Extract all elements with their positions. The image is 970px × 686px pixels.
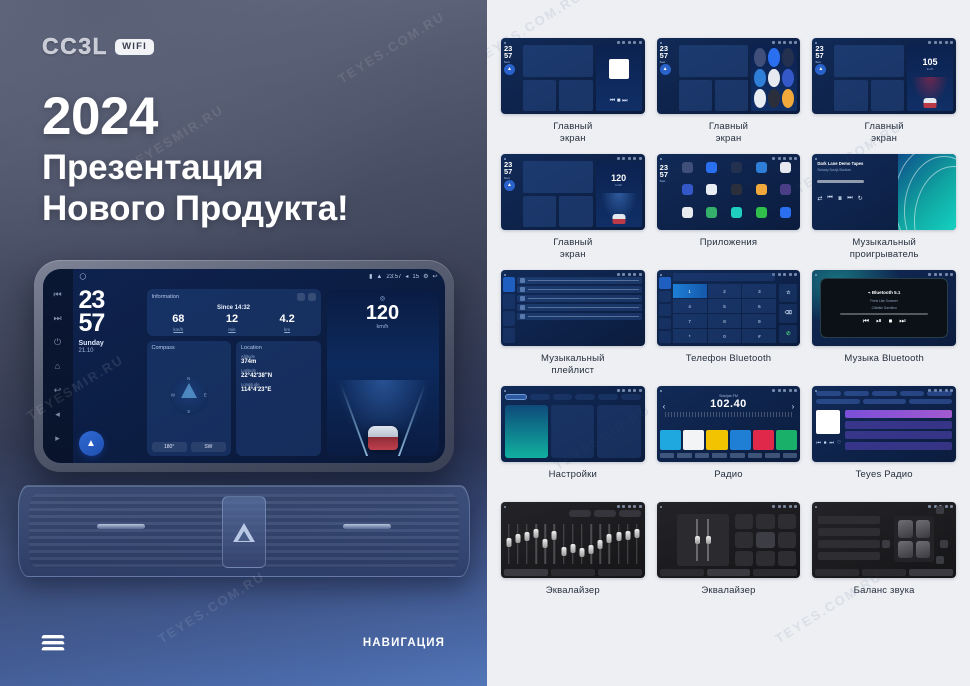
screen-caption: Музыка Bluetooth: [844, 353, 924, 377]
clock-icon: [622, 157, 625, 160]
track-icon: [520, 287, 525, 292]
mini-nav-button[interactable]: ▲: [504, 64, 515, 75]
app-icon[interactable]: [780, 162, 791, 173]
screen-card[interactable]: 2357 Sun ▲ ⏮ ■ ⏭ Главныйэкран: [501, 38, 645, 145]
app-icon[interactable]: [731, 184, 742, 195]
screen-card[interactable]: 2357 Sun ▲ 120km/h Главныйэкран: [501, 154, 645, 261]
balance-right-button[interactable]: [940, 540, 948, 548]
effect-button[interactable]: [756, 551, 775, 566]
screen-caption: Главныйэкран: [709, 121, 748, 145]
radio-presets[interactable]: [660, 430, 798, 450]
dial-actions[interactable]: ☆⌫✆: [779, 284, 797, 343]
eq-band[interactable]: [533, 520, 540, 568]
clock-icon: [778, 41, 781, 44]
prev-station-icon[interactable]: ‹: [663, 402, 666, 411]
bt-controls[interactable]: ⏮⏯⏹⏭: [863, 318, 906, 326]
effect-button[interactable]: [756, 514, 775, 529]
screen-card[interactable]: Настройки: [501, 386, 645, 493]
app-icon[interactable]: [782, 89, 794, 108]
thumb-body: 2357 Sun ▲ 120km/h: [504, 161, 642, 227]
radio-preset-tile[interactable]: [730, 430, 751, 450]
screen-thumbnail[interactable]: Dark Lane Demo Tapes Subway Soulja Stadi…: [812, 154, 956, 230]
teyes-controls[interactable]: ⏮⏹⏭♡: [816, 440, 841, 446]
prev-track-icon[interactable]: ⏮: [52, 289, 63, 300]
list-item: [845, 442, 952, 450]
app-icon[interactable]: [782, 69, 794, 88]
radio-header: Stacijas FM 102.40: [663, 394, 795, 410]
effect-button[interactable]: [778, 532, 797, 547]
back-icon: [950, 505, 953, 508]
screen-caption: Эквалайзер: [701, 585, 755, 609]
home-circle-icon: [504, 274, 506, 276]
progress-bar[interactable]: [817, 180, 864, 183]
list-item[interactable]: [517, 304, 642, 311]
settings-tabs[interactable]: [505, 394, 641, 400]
dial-key[interactable]: 9: [742, 314, 776, 328]
app-icon[interactable]: [780, 207, 791, 218]
radio-preset-tile[interactable]: [660, 430, 681, 450]
home-circle-icon[interactable]: ◯: [80, 273, 87, 280]
mini-compass-card[interactable]: [834, 80, 867, 112]
location-card[interactable]: Location Altitude 374m Latitude 22°42'38…: [236, 341, 321, 456]
app-icon[interactable]: [782, 48, 794, 67]
screen-card[interactable]: ⌁ Bluetooth 5.1 Feels Like Summer Childi…: [812, 270, 956, 377]
mini-clock: 2357 Sun: [660, 164, 676, 183]
screen-thumbnail[interactable]: [657, 502, 801, 578]
next-track-icon[interactable]: ⏭: [52, 313, 63, 324]
screen-card[interactable]: Эквалайзер: [501, 502, 645, 609]
eq-band[interactable]: [624, 520, 631, 568]
eq-band[interactable]: [615, 520, 622, 568]
teyes-tab: [872, 391, 897, 396]
list-item[interactable]: [517, 313, 642, 320]
mini-nav-button[interactable]: ▲: [815, 64, 826, 75]
compass-e: E: [204, 393, 207, 398]
effect-button[interactable]: [778, 514, 797, 529]
clock-date: 21.10: [79, 348, 141, 354]
mini-location-card[interactable]: [559, 80, 592, 112]
bt-device-name: ⌁ Bluetooth 5.1: [868, 290, 900, 296]
thumb-status-bar: [815, 504, 953, 509]
toolbar-icon: [660, 453, 675, 458]
clock-icon: [934, 41, 937, 44]
volume-icon: [783, 273, 786, 276]
list-item[interactable]: [517, 295, 642, 302]
screen-caption: Главныйэкран: [553, 237, 592, 261]
toolbar-icon: [748, 453, 763, 458]
app-icon[interactable]: [754, 48, 766, 67]
app-icon[interactable]: [768, 69, 780, 88]
favorite-icon: ♡: [837, 440, 841, 446]
settings-card-more[interactable]: [597, 405, 640, 458]
clock-icon: [778, 157, 781, 160]
bt-track-artist: Childish Gambino: [872, 306, 897, 310]
screen-caption: Главныйэкран: [553, 121, 592, 145]
volume-icon: [628, 273, 631, 276]
wifi-icon: [928, 41, 931, 44]
next-icon: ⏭: [899, 318, 905, 326]
app-icon[interactable]: [756, 184, 767, 195]
screen-card[interactable]: Эквалайзер: [657, 502, 801, 609]
mini-car: [612, 214, 625, 224]
mini-date: Sun: [660, 180, 676, 183]
vent-slider-left[interactable]: [97, 524, 145, 529]
favorite-icon: ☆: [779, 284, 797, 302]
tab-balance: [753, 569, 797, 576]
home-icon[interactable]: ⌂: [52, 361, 63, 372]
volume-icon: [783, 505, 786, 508]
eq-band[interactable]: [597, 520, 604, 568]
balance-left-button[interactable]: [882, 540, 890, 548]
backspace-icon: ⌫: [779, 304, 797, 322]
latitude-row: Latitude 22°42'38"N: [241, 368, 316, 379]
mini-location-card[interactable]: [559, 196, 592, 228]
back-icon[interactable]: ↩: [52, 385, 63, 396]
longitude-row: Longitude 114°4'23"E: [241, 382, 316, 393]
home-circle-icon: [660, 390, 662, 392]
clock-day: Sunday: [79, 340, 141, 347]
equalizer-bands[interactable]: [505, 520, 641, 568]
balance-down-button[interactable]: [936, 556, 944, 564]
screen-card[interactable]: 123456789*0# ☆⌫✆ Телефон Bluetooth: [657, 270, 801, 377]
logo-text: CC3L: [42, 33, 108, 60]
wifi-icon: [772, 389, 775, 392]
mini-info-card[interactable]: [523, 161, 593, 193]
mini-info-card[interactable]: [679, 45, 749, 77]
toolbar-icon: [677, 453, 692, 458]
seat-fr: [916, 520, 930, 538]
number-field[interactable]: [673, 273, 776, 281]
refresh-icon[interactable]: [297, 293, 305, 301]
mini-location-card[interactable]: [871, 80, 904, 112]
vent-slider-right[interactable]: [343, 524, 391, 529]
prev-icon: ⏮: [863, 318, 869, 326]
screen-card[interactable]: Музыкальныйплейлист: [501, 270, 645, 377]
mini-info-card[interactable]: [523, 45, 593, 77]
hazard-button[interactable]: [222, 496, 266, 568]
radio-preset-tile[interactable]: [753, 430, 774, 450]
app-icon[interactable]: [731, 162, 742, 173]
headline-line-1: Презентация: [42, 148, 348, 189]
dial-key[interactable]: 0: [708, 329, 742, 343]
mini-drive-panel[interactable]: 105km/h: [907, 45, 953, 111]
mini-compass-card[interactable]: [523, 196, 556, 228]
dial-key[interactable]: 1: [673, 284, 707, 298]
wifi-icon: ▲: [376, 274, 382, 280]
mini-media-panel[interactable]: ⏮ ■ ⏭: [596, 45, 642, 111]
screen-card[interactable]: 2357 Sun ▲ Главныйэкран: [657, 38, 801, 145]
thumb-status-bar: [504, 388, 642, 393]
mini-compass-card[interactable]: [523, 80, 556, 112]
screen-card[interactable]: 2357 Sun Приложения: [657, 154, 801, 261]
clock-icon: [622, 273, 625, 276]
toolbar-icon: [695, 453, 710, 458]
home-circle-icon: [504, 390, 506, 392]
back-icon: [639, 505, 642, 508]
volume-icon: [783, 41, 786, 44]
app-icon[interactable]: [682, 207, 693, 218]
tab-search: [659, 304, 671, 316]
tab-system: [621, 394, 641, 400]
eq-band[interactable]: [606, 520, 613, 568]
preset-button: [569, 510, 591, 517]
thumb-body: 2357 Sun ▲ ⏮ ■ ⏭: [504, 45, 642, 111]
mini-app-grid[interactable]: [754, 48, 794, 108]
tab-theme: [575, 394, 595, 400]
balance-pad[interactable]: [894, 516, 934, 562]
radio-preset-tile[interactable]: [776, 430, 797, 450]
status-volume: 15: [412, 274, 419, 280]
dial-key[interactable]: #: [742, 329, 776, 343]
compass-direction: SW: [191, 442, 226, 452]
teyes-now-playing: ⏮⏹⏭♡: [816, 410, 841, 458]
stop-icon: ⏹: [824, 440, 827, 446]
information-title: Information: [152, 294, 180, 300]
repeat-icon: ↻: [858, 195, 863, 202]
screen-thumbnail[interactable]: [501, 270, 645, 346]
app-icon[interactable]: [706, 207, 717, 218]
back-icon: [639, 157, 642, 160]
mini-speed-unit: km/h: [596, 183, 642, 187]
mini-nav-button[interactable]: ▲: [660, 64, 671, 75]
effect-button[interactable]: [735, 514, 754, 529]
track-icon: [520, 278, 525, 283]
screen-card[interactable]: 2357 Sun ▲ 105km/h Главныйэкран: [812, 38, 956, 145]
mini-widget-row: [523, 196, 593, 228]
home-circle-icon: [660, 274, 662, 276]
settings-card-carinfo[interactable]: [551, 405, 594, 458]
mini-app-panel[interactable]: [751, 45, 797, 111]
settings-cards[interactable]: [505, 405, 641, 458]
list-item[interactable]: [517, 286, 642, 293]
effect-button[interactable]: [778, 551, 797, 566]
eq-presets-row[interactable]: [569, 510, 641, 517]
bt-progress[interactable]: [840, 313, 928, 315]
headline-line-2: Нового Продукта!: [42, 189, 348, 230]
bt-music-card: ⌁ Bluetooth 5.1 Feels Like Summer Childi…: [820, 278, 948, 338]
teyes-filters[interactable]: [816, 399, 952, 404]
list-item: [845, 421, 952, 429]
eq-band[interactable]: [542, 520, 549, 568]
dial-key[interactable]: 2: [708, 284, 742, 298]
clock-widget[interactable]: 23 57 Sunday 21.10 ▲: [79, 289, 141, 456]
dial-pad[interactable]: 123456789*0#: [673, 284, 777, 343]
eq-band[interactable]: [523, 520, 530, 568]
next-icon: ⏭: [829, 440, 834, 446]
eq-band[interactable]: [588, 520, 595, 568]
screen-card[interactable]: ⏮⏹⏭♡ Teyes Радио: [812, 386, 956, 493]
mini-speed: 120km/h: [596, 173, 642, 187]
screen-thumbnail[interactable]: 2357 Sun ▲: [657, 38, 801, 114]
next-station-icon[interactable]: ›: [792, 402, 795, 411]
mini-location-card[interactable]: [715, 80, 748, 112]
clock-icon: [778, 273, 781, 276]
thumb-status-bar: [504, 504, 642, 509]
signal-icon: ▮: [369, 273, 372, 280]
volume-icon: [628, 41, 631, 44]
screen-thumbnail[interactable]: 2357 Sun ▲ ⏮ ■ ⏭: [501, 38, 645, 114]
radio-tuning-scale[interactable]: [665, 412, 793, 417]
tab-recent: [659, 318, 671, 330]
teyes-station-list[interactable]: [845, 410, 952, 458]
app-icon[interactable]: [731, 207, 742, 218]
screen-thumbnail[interactable]: [501, 386, 645, 462]
thumb-body: 2357 Sun ▲ 105km/h: [815, 45, 953, 111]
app-icon[interactable]: [768, 48, 780, 67]
air-vents: [18, 485, 470, 577]
screen-thumbnail[interactable]: Stacijas FM 102.40 ‹ ›: [657, 386, 801, 462]
eq-band[interactable]: [569, 520, 576, 568]
screens-grid: 2357 Sun ▲ ⏮ ■ ⏭ Главныйэкран 2357 Sun ▲: [501, 38, 956, 609]
screen-card[interactable]: Баланс звука: [812, 502, 956, 609]
app-grid[interactable]: [677, 162, 797, 226]
seat-rr: [916, 541, 930, 559]
app-icon[interactable]: [682, 184, 693, 195]
screen-thumbnail[interactable]: 2357 Sun ▲ 120km/h: [501, 154, 645, 230]
app-icon[interactable]: [768, 89, 780, 108]
screen-card[interactable]: Stacijas FM 102.40 ‹ › Радио: [657, 386, 801, 493]
app-icon[interactable]: [706, 162, 717, 173]
wifi-icon: [617, 41, 620, 44]
app-icon[interactable]: [754, 69, 766, 88]
dial-key[interactable]: 4: [673, 299, 707, 313]
app-icon[interactable]: [780, 184, 791, 195]
playlist-items[interactable]: [517, 277, 642, 343]
back-icon: [639, 273, 642, 276]
screen-thumbnail[interactable]: 2357 Sun ▲ 105km/h: [812, 38, 956, 114]
status-time: 23:57: [386, 274, 401, 280]
settings-card-wlan[interactable]: [505, 405, 548, 458]
wifi-icon: [617, 505, 620, 508]
app-icon[interactable]: [682, 162, 693, 173]
mini-compass-card[interactable]: [679, 80, 712, 112]
screen-thumbnail[interactable]: ⏮⏹⏭♡: [812, 386, 956, 462]
wifi-icon: [928, 505, 931, 508]
longitude-value: 114°4'23"E: [241, 387, 316, 393]
eq-sliders[interactable]: [677, 514, 729, 566]
eq-band[interactable]: [505, 520, 512, 568]
stat-item: 4.2 km: [279, 314, 294, 332]
eq-band[interactable]: [560, 520, 567, 568]
tab-eq: [504, 569, 548, 576]
dial-key[interactable]: 3: [742, 284, 776, 298]
app-icon[interactable]: [756, 207, 767, 218]
head-unit-screen: ⏮ ⏭ ⏻ ⌂ ↩ ◂ ▸ ◯ ▮ ▲ 23:57 ◂: [43, 269, 445, 463]
mini-widgets: [523, 45, 593, 111]
phone-sidebar[interactable]: [659, 277, 671, 343]
dialer: 123456789*0# ☆⌫✆: [673, 277, 798, 343]
clock-icon: [622, 41, 625, 44]
dial-key[interactable]: 8: [708, 314, 742, 328]
radio-preset-tile[interactable]: [706, 430, 727, 450]
balance-up-button[interactable]: [936, 506, 944, 514]
back-icon: [794, 41, 797, 44]
stat-value: 68: [172, 314, 184, 325]
compass-card[interactable]: Compass N E S W 180°: [147, 341, 232, 456]
tab-general: [598, 394, 618, 400]
screen-side-rail[interactable]: ⏮ ⏭ ⏻ ⌂ ↩ ◂ ▸: [43, 269, 73, 463]
stat-value: 4.2: [279, 314, 294, 325]
screen-thumbnail[interactable]: 123456789*0# ☆⌫✆: [657, 270, 801, 346]
thumb-status-bar: [660, 388, 798, 393]
mini-drive-panel[interactable]: 120km/h: [596, 161, 642, 227]
clock-icon: [778, 505, 781, 508]
screen-thumbnail[interactable]: [812, 502, 956, 578]
eq-effect-grid[interactable]: [735, 514, 797, 566]
expand-icon[interactable]: [308, 293, 316, 301]
hazard-triangle-inner: [238, 531, 250, 541]
radio-preset-tile[interactable]: [683, 430, 704, 450]
dial-key[interactable]: 6: [742, 299, 776, 313]
wifi-icon: [617, 273, 620, 276]
app-icon[interactable]: [754, 89, 766, 108]
mini-speed: 105km/h: [907, 57, 953, 71]
dial-key[interactable]: 5: [708, 299, 742, 313]
screen-thumbnail[interactable]: ⌁ Bluetooth 5.1 Feels Like Summer Childi…: [812, 270, 956, 346]
drive-assist-card[interactable]: ◎ 120 km/h: [327, 289, 439, 456]
altitude-value: 374m: [241, 359, 316, 365]
back-icon: [794, 273, 797, 276]
screen-caption: Главныйэкран: [865, 121, 904, 145]
home-circle-icon: [660, 158, 662, 160]
eq-band[interactable]: [514, 520, 521, 568]
screen-thumbnail[interactable]: 2357 Sun: [657, 154, 801, 230]
stat-item: 68 km/h: [172, 314, 184, 332]
back-icon: [794, 505, 797, 508]
eq-band[interactable]: [633, 520, 640, 568]
navigation-button[interactable]: ▲: [79, 431, 104, 456]
power-icon[interactable]: ⏻: [52, 337, 63, 348]
dial-key[interactable]: *: [673, 329, 707, 343]
back-icon[interactable]: ↩: [432, 273, 437, 280]
wifi-icon: [617, 389, 620, 392]
settings-icon: [633, 157, 636, 160]
effect-button[interactable]: [735, 532, 754, 547]
mini-info-card[interactable]: [834, 45, 904, 77]
dial-key[interactable]: 7: [673, 314, 707, 328]
information-card[interactable]: Information Since 14:32 68 km/h: [147, 289, 321, 336]
back-icon: [950, 41, 953, 44]
volume-down-icon[interactable]: ◂: [52, 409, 63, 420]
eq-band[interactable]: [578, 520, 585, 568]
preset-button: [619, 510, 641, 517]
screen-card[interactable]: Dark Lane Demo Tapes Subway Soulja Stadi…: [812, 154, 956, 261]
list-item[interactable]: [517, 277, 642, 284]
clock-minutes: 57: [79, 312, 141, 335]
effect-button[interactable]: [756, 532, 775, 547]
toolbar-icon: [765, 453, 780, 458]
player-controls[interactable]: ⇄⏮⏸⏭↻: [817, 193, 893, 204]
radio-toolbar[interactable]: [660, 453, 798, 460]
app-icon[interactable]: [756, 162, 767, 173]
mini-nav-button[interactable]: ▲: [504, 180, 515, 191]
screen-caption: Телефон Bluetooth: [686, 353, 772, 377]
media-controls[interactable]: ⏮ ■ ⏭: [596, 98, 642, 105]
app-icon[interactable]: [706, 184, 717, 195]
teyes-tabs[interactable]: [816, 391, 952, 396]
eq-tabbar[interactable]: [660, 569, 798, 576]
eq-tabbar[interactable]: [815, 569, 953, 576]
eq-band[interactable]: [551, 520, 558, 568]
player-visual: [898, 154, 956, 230]
settings-icon[interactable]: ⚙: [423, 273, 428, 280]
settings-icon: [945, 41, 948, 44]
playlist-sidebar[interactable]: [503, 277, 515, 343]
effect-button[interactable]: [735, 551, 754, 566]
volume-up-icon[interactable]: ▸: [52, 433, 63, 444]
screen-thumbnail[interactable]: [501, 502, 645, 578]
eq-tabbar[interactable]: [504, 569, 642, 576]
